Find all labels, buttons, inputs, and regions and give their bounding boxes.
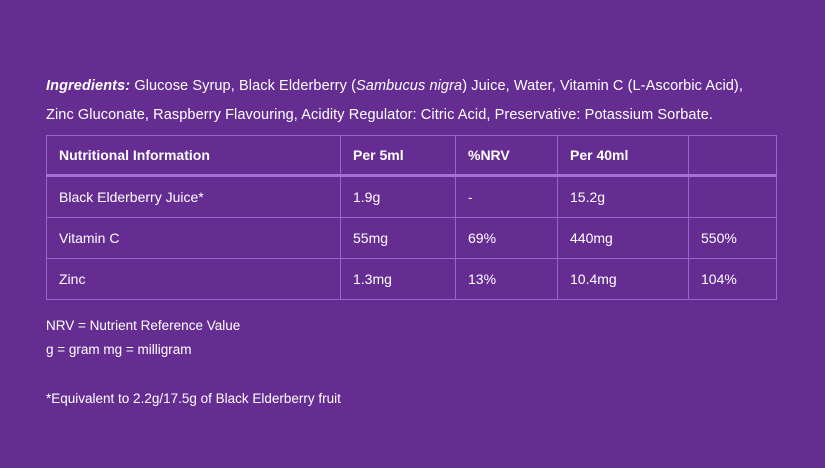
- column-header-per-5ml: Per 5ml: [341, 136, 456, 176]
- cell-nutrient-name: Zinc: [47, 259, 341, 300]
- nutritional-information-table: Nutritional Information Per 5ml %NRV Per…: [46, 135, 777, 300]
- cell-nrv-5ml: -: [456, 176, 558, 218]
- cell-nrv-5ml: 13%: [456, 259, 558, 300]
- ingredients-text-before: Glucose Syrup, Black Elderberry (: [130, 78, 356, 94]
- cell-nrv-5ml: 69%: [456, 218, 558, 259]
- cell-nutrient-name: Vitamin C: [47, 218, 341, 259]
- note-nrv-definition: NRV = Nutrient Reference Value: [46, 314, 646, 338]
- ingredients-paragraph: Ingredients: Glucose Syrup, Black Elderb…: [46, 72, 766, 130]
- cell-per-5ml: 1.9g: [341, 176, 456, 218]
- cell-nrv-40ml: 550%: [689, 218, 777, 259]
- column-header-nutritional-information: Nutritional Information: [47, 136, 341, 176]
- cell-nrv-40ml: [689, 176, 777, 218]
- cell-per-40ml: 10.4mg: [558, 259, 689, 300]
- cell-nutrient-name: Black Elderberry Juice*: [47, 176, 341, 218]
- table-row: Black Elderberry Juice* 1.9g - 15.2g: [47, 176, 777, 218]
- cell-per-5ml: 1.3mg: [341, 259, 456, 300]
- nutrition-panel: Ingredients: Glucose Syrup, Black Elderb…: [0, 0, 825, 468]
- ingredients-scientific-name: Sambucus nigra: [356, 78, 462, 94]
- table-row: Zinc 1.3mg 13% 10.4mg 104%: [47, 259, 777, 300]
- table-body: Black Elderberry Juice* 1.9g - 15.2g Vit…: [47, 176, 777, 300]
- cell-per-40ml: 440mg: [558, 218, 689, 259]
- cell-nrv-40ml: 104%: [689, 259, 777, 300]
- cell-per-5ml: 55mg: [341, 218, 456, 259]
- note-equivalent-fruit: *Equivalent to 2.2g/17.5g of Black Elder…: [46, 389, 341, 409]
- table-header: Nutritional Information Per 5ml %NRV Per…: [47, 136, 777, 176]
- table-row: Vitamin C 55mg 69% 440mg 550%: [47, 218, 777, 259]
- ingredients-label: Ingredients:: [46, 78, 130, 94]
- table-notes: NRV = Nutrient Reference Value g = gram …: [46, 314, 646, 362]
- column-header-blank: [689, 136, 777, 176]
- cell-per-40ml: 15.2g: [558, 176, 689, 218]
- table-header-row: Nutritional Information Per 5ml %NRV Per…: [47, 136, 777, 176]
- note-unit-definition: g = gram mg = milligram: [46, 338, 646, 362]
- column-header-nrv: %NRV: [456, 136, 558, 176]
- column-header-per-40ml: Per 40ml: [558, 136, 689, 176]
